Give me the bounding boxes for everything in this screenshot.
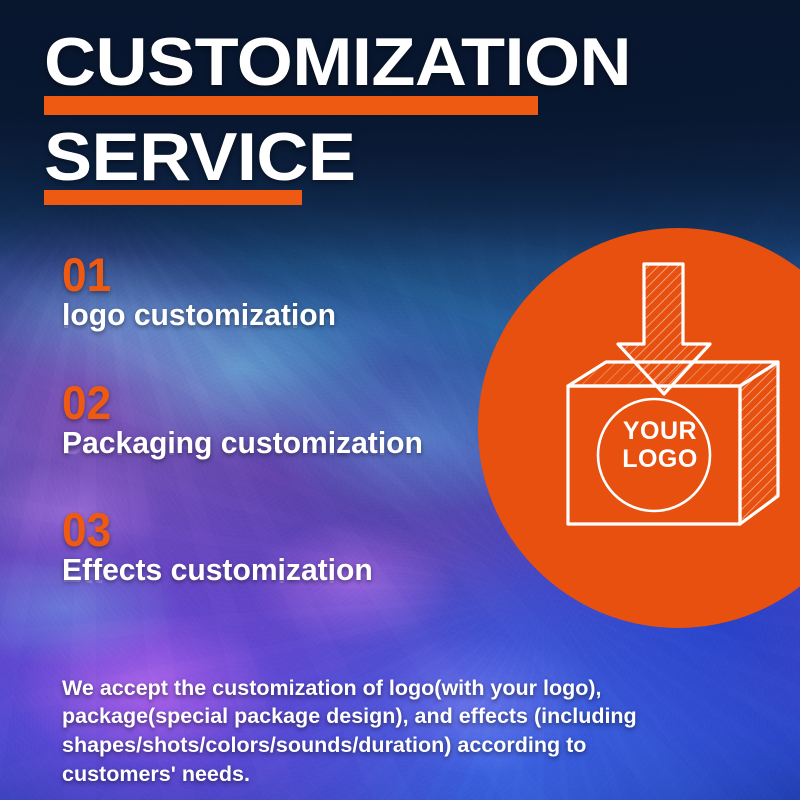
page-title: CUSTOMIZATION SERVICE <box>44 34 604 205</box>
logo-text-line-2: LOGO <box>597 445 723 473</box>
list-item: 01 logo customization logo customization <box>62 252 492 354</box>
logo-text-line-1: YOUR <box>597 417 723 445</box>
list-item: 02 Packaging customization Packaging cus… <box>62 380 492 482</box>
promo-banner: CUSTOMIZATION SERVICE 01 logo customizat… <box>0 0 800 800</box>
item-label: Packaging customization <box>62 427 479 460</box>
item-label: Effects customization <box>62 554 479 587</box>
logo-placeholder-text: YOUR LOGO <box>597 417 723 474</box>
title-line-1: CUSTOMIZATION <box>44 34 638 91</box>
item-number: 02 <box>62 380 466 425</box>
item-number: 01 <box>62 252 466 297</box>
feature-list: 01 logo customization logo customization… <box>62 252 492 635</box>
item-label: logo customization <box>62 299 479 332</box>
description-paragraph: We accept the customization of logo(with… <box>62 674 682 789</box>
title-line-2: SERVICE <box>44 129 638 186</box>
item-number: 03 <box>62 507 466 552</box>
list-item: 03 Effects customization Effects customi… <box>62 507 492 609</box>
